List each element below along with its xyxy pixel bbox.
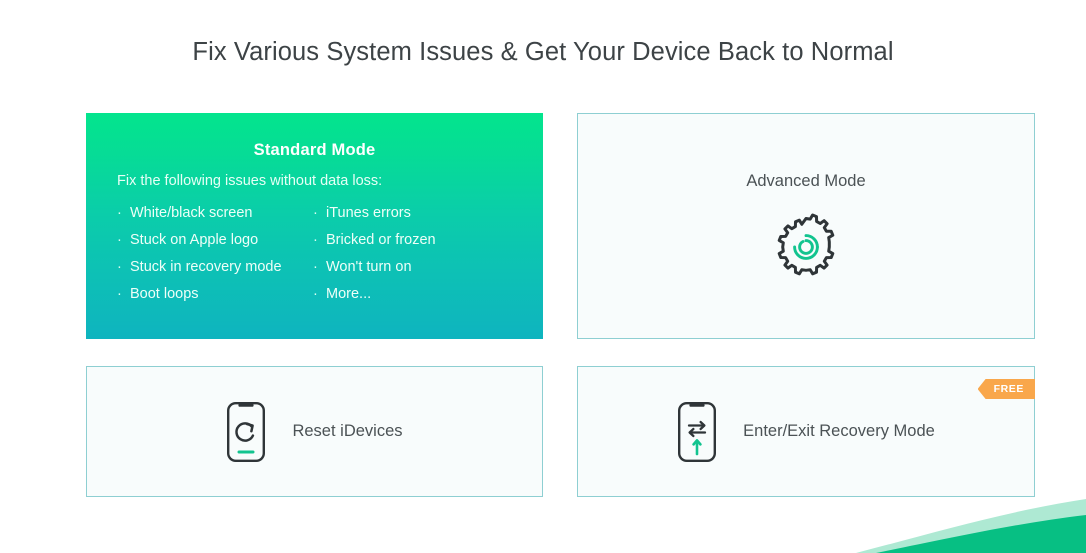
issue-label: Won't turn on [326,259,412,275]
advanced-mode-content: Advanced Mode [578,114,1034,338]
mode-card-grid: Standard Mode Fix the following issues w… [86,113,1035,497]
bullet-icon: · [117,281,130,308]
list-item: ·Stuck in recovery mode [117,254,313,281]
phone-swap-icon [677,401,717,463]
bullet-icon: · [313,227,326,254]
issue-label: More... [326,286,371,302]
card-recovery-mode[interactable]: FREE Enter/Exit Recovery Mode [577,366,1035,497]
issue-label: White/black screen [130,205,253,221]
bullet-icon: · [313,200,326,227]
recovery-mode-label: Enter/Exit Recovery Mode [743,422,935,441]
standard-mode-title: Standard Mode [86,141,543,160]
page-title: Fix Various System Issues & Get Your Dev… [0,38,1086,67]
standard-mode-issue-columns: ·White/black screen ·Stuck on Apple logo… [86,200,543,308]
reset-idevices-content: Reset iDevices [87,367,542,496]
phone-refresh-icon [226,401,266,463]
issue-column-right: ·iTunes errors ·Bricked or frozen ·Won't… [313,200,509,308]
bullet-icon: · [313,281,326,308]
standard-mode-subtitle: Fix the following issues without data lo… [86,173,543,189]
issue-column-left: ·White/black screen ·Stuck on Apple logo… [117,200,313,308]
recovery-mode-content: Enter/Exit Recovery Mode [578,367,1034,496]
reset-idevices-label: Reset iDevices [292,422,402,441]
bullet-icon: · [117,254,130,281]
issue-label: Bricked or frozen [326,232,436,248]
bullet-icon: · [117,200,130,227]
card-advanced-mode[interactable]: Advanced Mode [577,113,1035,339]
issue-label: Stuck on Apple logo [130,232,258,248]
bullet-icon: · [117,227,130,254]
issue-label: iTunes errors [326,205,411,221]
gear-icon [772,213,840,281]
list-item: ·Stuck on Apple logo [117,227,313,254]
corner-wave-decoration [856,495,1086,553]
list-item: ·Bricked or frozen [313,227,509,254]
fix-system-issues-screen: Fix Various System Issues & Get Your Dev… [0,0,1086,553]
issue-label: Boot loops [130,286,199,302]
list-item: ·Boot loops [117,281,313,308]
list-item: ·More... [313,281,509,308]
list-item: ·iTunes errors [313,200,509,227]
bullet-icon: · [313,254,326,281]
card-standard-mode[interactable]: Standard Mode Fix the following issues w… [86,113,543,339]
status-badge-free: FREE [978,379,1035,399]
issue-label: Stuck in recovery mode [130,259,282,275]
list-item: ·White/black screen [117,200,313,227]
card-reset-idevices[interactable]: Reset iDevices [86,366,543,497]
list-item: ·Won't turn on [313,254,509,281]
advanced-mode-label: Advanced Mode [746,172,865,191]
